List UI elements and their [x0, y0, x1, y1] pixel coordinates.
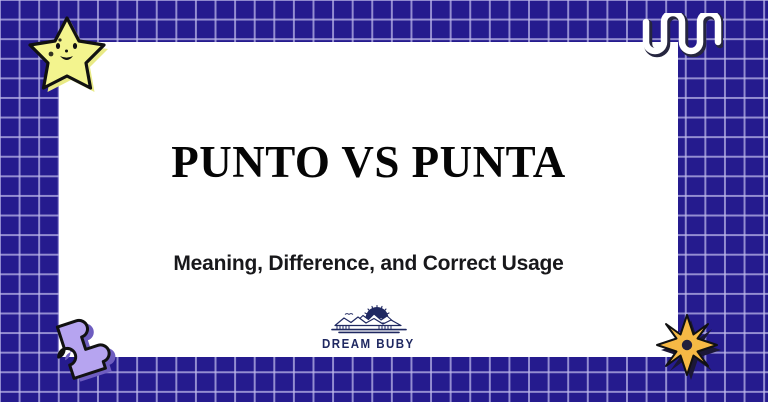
mountain-sunrise-logo-icon	[327, 304, 411, 336]
eight-point-starburst-icon	[654, 312, 728, 388]
page-subtitle: Meaning, Difference, and Correct Usage	[59, 253, 678, 274]
brand-logo: DREAM BUBY	[294, 304, 444, 351]
puzzle-piece-icon	[46, 303, 126, 385]
slide-canvas: PUNTO VS PUNTA Meaning, Difference, and …	[0, 0, 768, 402]
page-title: PUNTO VS PUNTA	[59, 140, 678, 185]
brand-name: DREAM BUBY	[322, 337, 415, 351]
squiggle-wave-icon	[637, 13, 723, 63]
card-inner: PUNTO VS PUNTA Meaning, Difference, and …	[59, 42, 678, 357]
content-card: PUNTO VS PUNTA Meaning, Difference, and …	[59, 42, 678, 357]
smiling-star-icon	[24, 12, 109, 102]
